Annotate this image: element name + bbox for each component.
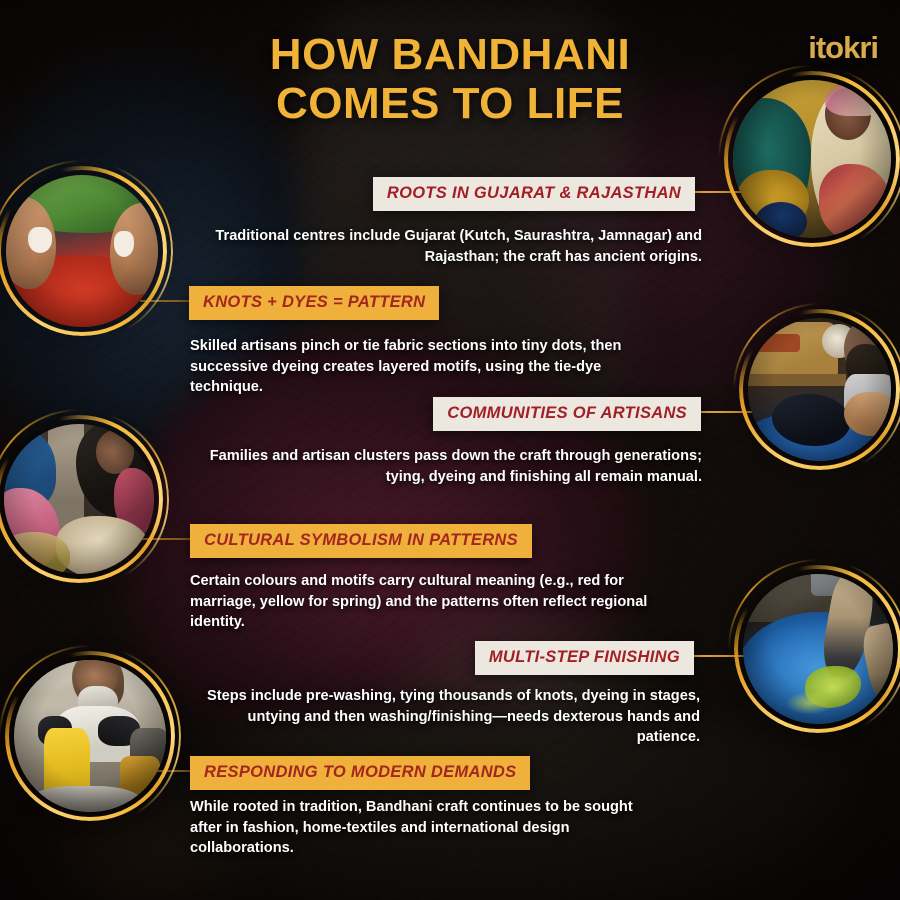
page-title: HOW BANDHANI COMES TO LIFE xyxy=(0,30,900,129)
section-label-knots-dyes[interactable]: KNOTS + DYES = PATTERN xyxy=(189,286,439,320)
photo-circle-hands-tying-red xyxy=(6,175,158,327)
brand-logo[interactable]: itokri xyxy=(808,30,878,66)
photo-circle-women-artisans xyxy=(4,424,154,574)
section-body-knots-dyes: Skilled artisans pinch or tie fabric sec… xyxy=(190,336,660,398)
photo-circle-indigo-vat xyxy=(743,574,893,724)
section-body-communities: Families and artisan clusters pass down … xyxy=(188,446,702,487)
section-label-finishing[interactable]: MULTI-STEP FINISHING xyxy=(475,641,694,675)
section-body-finishing: Steps include pre-washing, tying thousan… xyxy=(200,686,700,748)
photo-circle-yellow-dyed-fabric xyxy=(14,660,166,812)
section-label-symbolism[interactable]: CULTURAL SYMBOLISM IN PATTERNS xyxy=(190,524,532,558)
section-label-communities[interactable]: COMMUNITIES OF ARTISANS xyxy=(433,397,701,431)
infographic-canvas: HOW BANDHANI COMES TO LIFE itokri xyxy=(0,0,900,900)
section-body-modern-demands: While rooted in tradition, Bandhani craf… xyxy=(190,797,660,859)
section-body-roots: Traditional centres include Gujarat (Kut… xyxy=(210,226,702,267)
section-body-symbolism: Certain colours and motifs carry cultura… xyxy=(190,571,650,633)
section-label-modern-demands[interactable]: RESPONDING TO MODERN DEMANDS xyxy=(190,756,530,790)
page-title-line-1: HOW BANDHANI xyxy=(0,30,900,79)
page-title-line-2: COMES TO LIFE xyxy=(0,79,900,128)
photo-circle-dyer-blue-vat xyxy=(748,318,891,461)
section-label-roots[interactable]: ROOTS IN GUJARAT & RAJASTHAN xyxy=(373,177,695,211)
